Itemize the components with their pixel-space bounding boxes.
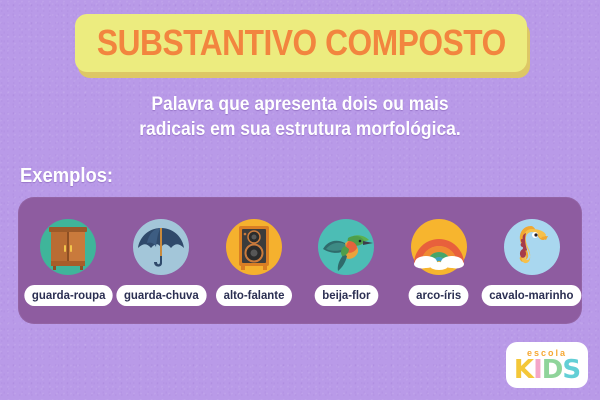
examples-row: guarda-roupa guarda-chuva [18, 197, 582, 324]
example-label-pill: guarda-chuva [116, 285, 206, 306]
logo-letter-i: I [533, 355, 542, 385]
example-label-pill: beija-flor [315, 285, 378, 306]
escola-kids-logo[interactable]: escola KIDS [506, 342, 588, 388]
logo-letter-k: K [514, 355, 533, 385]
page-title: SUBSTANTIVO COMPOSTO [97, 25, 506, 61]
subtitle-line-2: radicais em sua estrutura morfológica. [24, 117, 576, 142]
example-label-pill: cavalo-marinho [482, 285, 581, 306]
example-item-guarda-roupa[interactable]: guarda-roupa [24, 216, 112, 306]
umbrella-icon [130, 216, 192, 278]
subtitle-definition: Palavra que apresenta dois ou mais radic… [24, 92, 576, 142]
example-item-alto-falante[interactable]: alto-falante [210, 216, 298, 306]
rainbow-icon [408, 216, 470, 278]
example-item-arco-iris[interactable]: arco-íris [395, 216, 483, 306]
subtitle-line-1: Palavra que apresenta dois ou mais [24, 92, 576, 117]
examples-heading: Exemplos: [20, 165, 113, 188]
logo-letter-s: S [562, 355, 580, 385]
hummingbird-icon [315, 216, 377, 278]
seahorse-icon [501, 216, 563, 278]
example-label-pill: alto-falante [216, 285, 292, 306]
wardrobe-icon [37, 216, 99, 278]
examples-panel: guarda-roupa guarda-chuva [18, 197, 582, 324]
example-item-beija-flor[interactable]: beija-flor [302, 216, 390, 306]
title-banner: SUBSTANTIVO COMPOSTO [75, 14, 527, 72]
infographic-canvas: SUBSTANTIVO COMPOSTO Palavra que apresen… [0, 0, 600, 400]
example-label-pill: arco-íris [409, 285, 469, 306]
logo-letter-d: D [542, 355, 563, 385]
example-item-cavalo-marinho[interactable]: cavalo-marinho [488, 216, 576, 306]
speaker-icon [223, 216, 285, 278]
logo-kids-text: KIDS [514, 358, 580, 383]
example-item-guarda-chuva[interactable]: guarda-chuva [117, 216, 205, 306]
example-label-pill: guarda-roupa [24, 285, 113, 306]
